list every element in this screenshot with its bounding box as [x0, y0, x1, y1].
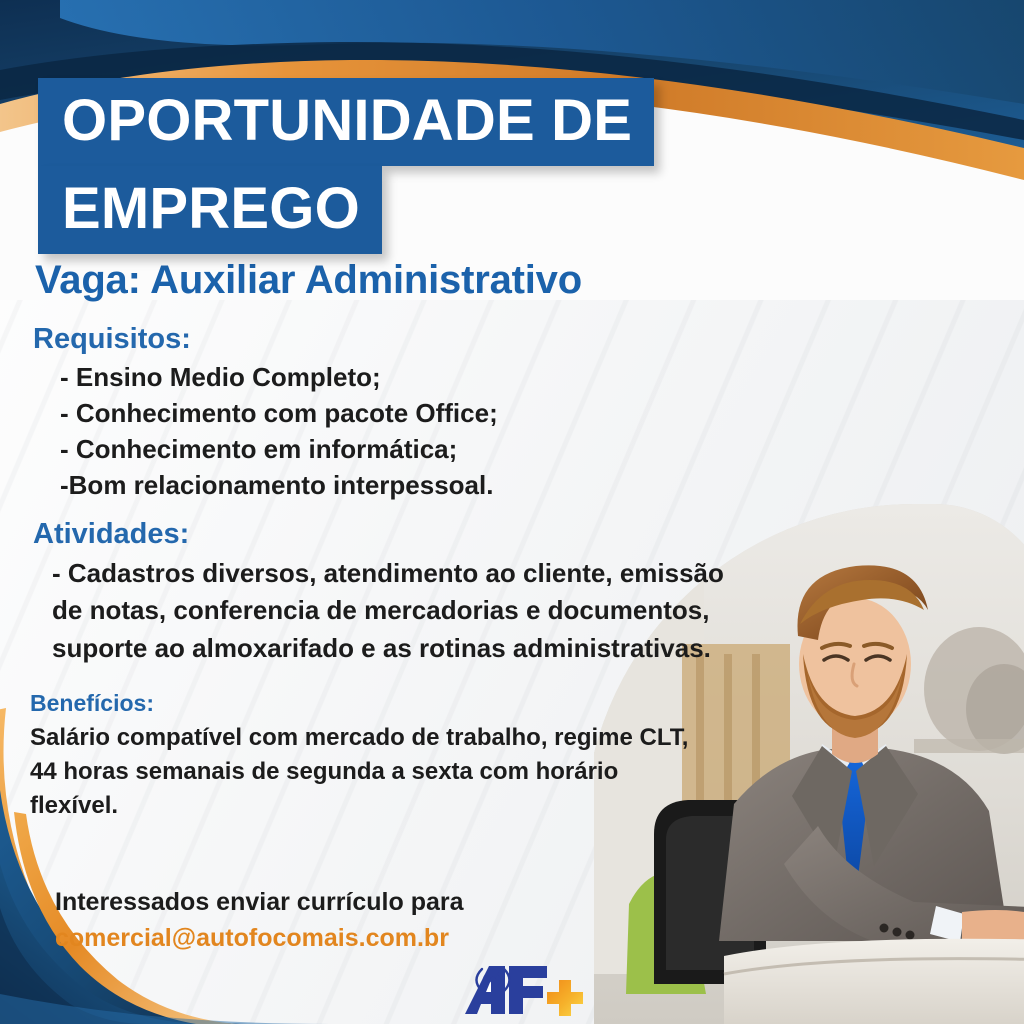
contact-block: Interessados enviar currículo para comer… — [55, 888, 464, 953]
position-title: Vaga: Auxiliar Administrativo — [35, 258, 730, 303]
list-item: - Conhecimento com pacote Office; — [60, 396, 730, 432]
benefits-text: Salário compatível com mercado de trabal… — [30, 721, 690, 823]
list-item: - Ensino Medio Completo; — [60, 360, 730, 396]
activities-text: - Cadastros diversos, atendimento ao cli… — [52, 555, 732, 668]
contact-email[interactable]: comercial@autofocomais.com.br — [55, 924, 464, 953]
contact-instruction: Interessados enviar currículo para — [55, 888, 464, 917]
requirements-list: - Ensino Medio Completo; - Conhecimento … — [30, 360, 730, 504]
logo-letter-f — [509, 966, 547, 1014]
title-line-1: OPORTUNIDADE DE — [38, 78, 654, 166]
title-line-2: EMPREGO — [38, 166, 382, 254]
title-banner: OPORTUNIDADE DE EMPREGO — [38, 78, 654, 254]
list-item: - Conhecimento em informática; — [60, 432, 730, 468]
main-content: Vaga: Auxiliar Administrativo Requisitos… — [30, 258, 730, 823]
list-item: -Bom relacionamento interpessoal. — [60, 468, 730, 504]
logo-plus-icon — [547, 980, 583, 1016]
requirements-heading: Requisitos: — [33, 323, 730, 356]
benefits-heading: Benefícios: — [30, 690, 730, 717]
job-ad-poster: OPORTUNIDADE DE EMPREGO Vaga: Auxiliar A… — [0, 0, 1024, 1024]
activities-heading: Atividades: — [33, 518, 730, 551]
title-line-row-1: OPORTUNIDADE DE — [38, 78, 654, 166]
company-logo — [455, 958, 585, 1022]
title-line-row-2: EMPREGO — [38, 166, 654, 254]
